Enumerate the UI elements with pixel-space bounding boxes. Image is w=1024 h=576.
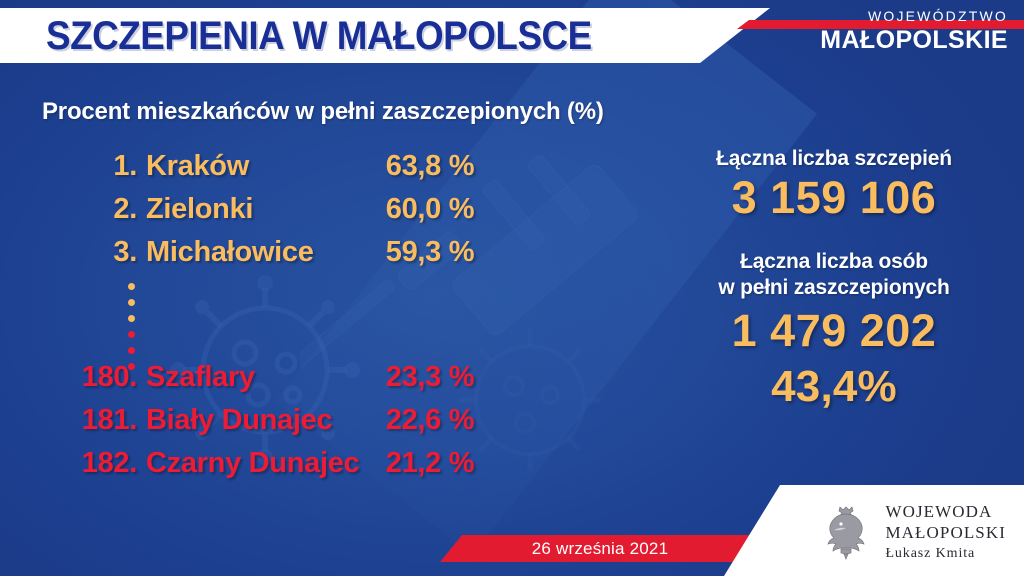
fully-vaccinated-label-line1: Łączna liczba osób xyxy=(660,249,1008,275)
rank-value: 63,8 % xyxy=(345,150,515,183)
ellipsis-dot xyxy=(128,331,135,338)
fully-vaccinated-block: Łączna liczba osób w pełni zaszczepionyc… xyxy=(660,249,1008,412)
rank-number: 3. xyxy=(0,236,137,269)
rank-name: Szaflary xyxy=(146,361,255,394)
table-row: 182. Czarny Dunajec 21,2 % xyxy=(0,447,620,490)
total-vaccinations-value: 3 159 106 xyxy=(660,172,1008,224)
ellipsis-dot xyxy=(128,347,135,354)
rank-value: 21,2 % xyxy=(345,447,515,480)
rank-value: 59,3 % xyxy=(345,236,515,269)
polish-eagle-icon xyxy=(820,502,872,562)
voivodeship-logo: WOJEWÓDZTWO MAŁOPOLSKIE xyxy=(820,8,1008,55)
table-row: 180. Szaflary 23,3 % xyxy=(0,361,620,404)
rank-name: Michałowice xyxy=(146,236,314,269)
table-row: 1. Kraków 63,8 % xyxy=(0,150,620,193)
voivodeship-label-small: WOJEWÓDZTWO xyxy=(820,8,1008,25)
wojewoda-text: WOJEWODA MAŁOPOLSKI Łukasz Kmita xyxy=(885,502,1006,561)
wojewoda-logo: WOJEWODA MAŁOPOLSKI Łukasz Kmita xyxy=(820,502,1006,562)
rank-number: 1. xyxy=(0,150,137,183)
wojewoda-line1: WOJEWODA xyxy=(885,502,1006,523)
fully-vaccinated-percent: 43,4% xyxy=(660,362,1008,412)
rank-number: 181. xyxy=(0,404,137,437)
voivodeship-label-big: MAŁOPOLSKIE xyxy=(820,26,1008,55)
rank-number: 182. xyxy=(0,447,137,480)
rank-value: 60,0 % xyxy=(345,193,515,226)
fully-vaccinated-value: 1 479 202 xyxy=(660,305,1008,357)
rank-name: Zielonki xyxy=(146,193,253,226)
fully-vaccinated-label-line2: w pełni zaszczepionych xyxy=(660,275,1008,301)
table-row: 181. Biały Dunajec 22,6 % xyxy=(0,404,620,447)
ellipsis-dot xyxy=(128,363,135,370)
ellipsis-dot xyxy=(128,299,135,306)
ellipsis-dot xyxy=(128,283,135,290)
rank-name: Czarny Dunajec xyxy=(146,447,359,480)
wojewoda-line2: MAŁOPOLSKI xyxy=(885,523,1006,544)
page-title: SZCZEPIENIA W MAŁOPOLSCE xyxy=(46,14,592,59)
rank-name: Biały Dunajec xyxy=(146,404,332,437)
total-vaccinations-label: Łączna liczba szczepień xyxy=(660,146,1008,172)
date-ribbon: 26 września 2021 xyxy=(440,535,770,562)
date-text: 26 września 2021 xyxy=(440,535,770,562)
wojewoda-line3: Łukasz Kmita xyxy=(885,546,1006,562)
ellipsis-dot xyxy=(128,315,135,322)
table-row: 3. Michałowice 59,3 % xyxy=(0,236,620,279)
table-row: 2. Zielonki 60,0 % xyxy=(0,193,620,236)
rank-value: 22,6 % xyxy=(345,404,515,437)
total-vaccinations-block: Łączna liczba szczepień 3 159 106 xyxy=(660,146,1008,223)
rank-number: 180. xyxy=(0,361,137,394)
ranking-ellipsis xyxy=(128,283,135,370)
rank-number: 2. xyxy=(0,193,137,226)
infographic-canvas: SZCZEPIENIA W MAŁOPOLSCE WOJEWÓDZTWO MAŁ… xyxy=(0,0,1024,576)
rank-name: Kraków xyxy=(146,150,249,183)
summary-stats: Łączna liczba szczepień 3 159 106 Łączna… xyxy=(660,146,1008,412)
subtitle: Procent mieszkańców w pełni zaszczepiony… xyxy=(42,98,604,126)
ranking-table: 1. Kraków 63,8 % 2. Zielonki 60,0 % 3. M… xyxy=(0,150,620,490)
rank-value: 23,3 % xyxy=(345,361,515,394)
